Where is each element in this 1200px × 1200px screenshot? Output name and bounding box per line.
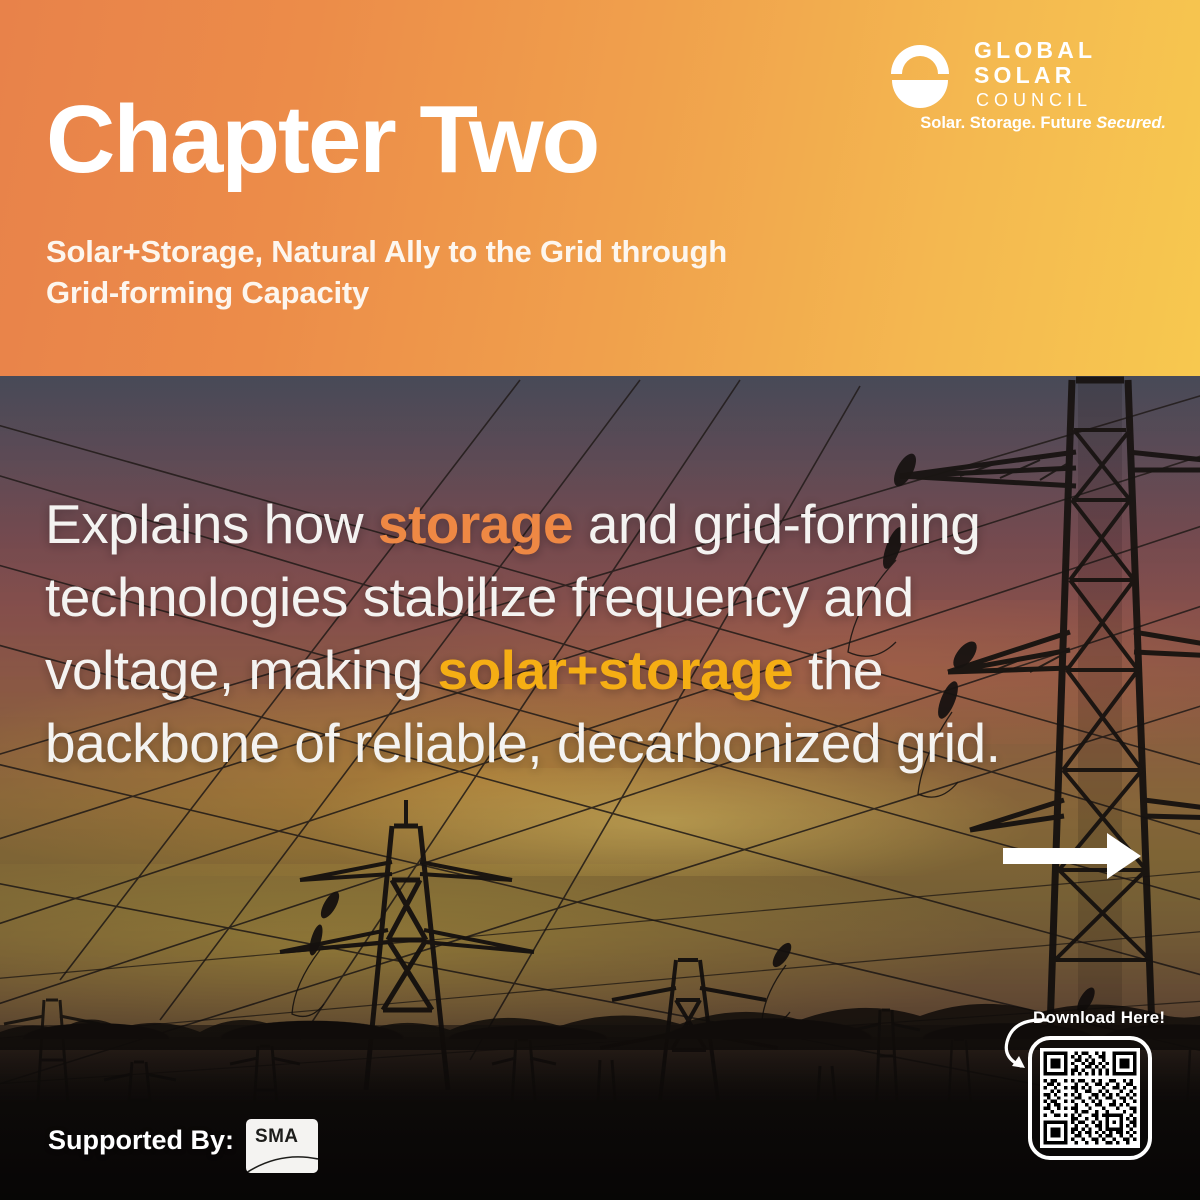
brand-name-line2: COUNCIL — [974, 89, 1166, 112]
body-description: Explains how storage and grid-forming te… — [45, 488, 1095, 781]
brand-tagline-italic: Secured. — [1096, 114, 1166, 132]
arrow-right-icon[interactable] — [1003, 831, 1143, 881]
sma-logo-icon: SMA — [246, 1119, 318, 1173]
brand-tagline-bold: Solar. Storage. Future — [920, 114, 1091, 132]
page-title: Chapter Two — [46, 92, 598, 188]
qr-code-icon[interactable] — [1040, 1048, 1140, 1148]
highlight-solar-storage: solar+storage — [438, 639, 794, 701]
brand-tagline: Solar. Storage. Future Secured. — [920, 114, 1166, 133]
header-band: Chapter Two Solar+Storage, Natural Ally … — [0, 0, 1200, 376]
chapter-promo-poster: Chapter Two Solar+Storage, Natural Ally … — [0, 0, 1200, 1200]
body-text-part1: Explains how — [45, 493, 378, 555]
supported-by-label: Supported By: — [48, 1125, 234, 1156]
globalsolarcouncil-circle-icon — [886, 40, 954, 108]
page-subtitle: Solar+Storage, Natural Ally to the Grid … — [46, 232, 806, 314]
brand-lockup: GLOBAL SOLAR COUNCIL Solar. Storage. Fut… — [886, 36, 1166, 146]
brand-name-line1: GLOBAL SOLAR — [974, 38, 1166, 89]
sponsor-name: SMA — [255, 1126, 298, 1148]
highlight-storage: storage — [378, 493, 573, 555]
